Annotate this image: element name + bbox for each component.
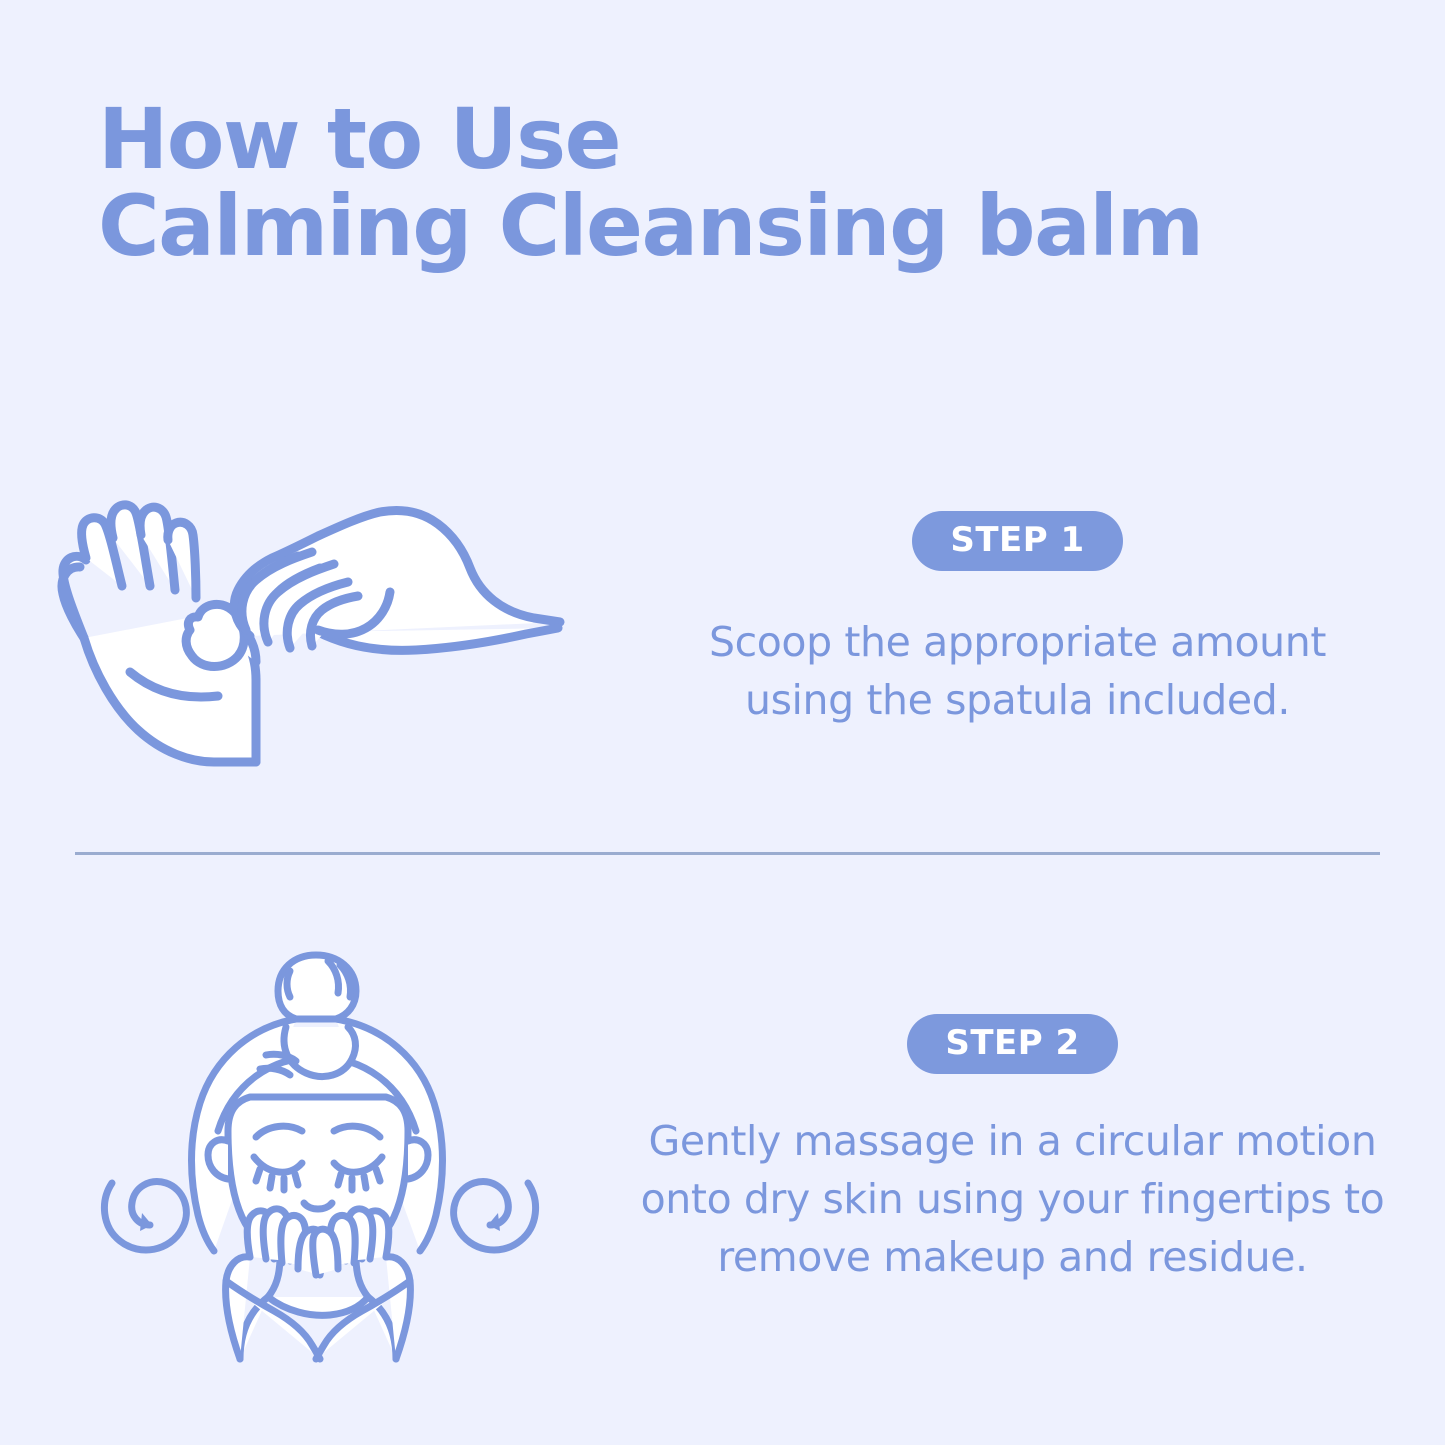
face-massage-icon <box>90 935 550 1365</box>
step-2-badge: STEP 2 <box>907 1014 1117 1074</box>
page-title: How to Use Calming Cleansing balm <box>98 96 1298 269</box>
hands-with-balm-illustration <box>0 440 650 800</box>
step-1-description: Scoop the appropriate amount using the s… <box>650 613 1385 729</box>
how-to-use-infographic: How to Use Calming Cleansing balm <box>0 0 1445 1445</box>
step-1-row: STEP 1 Scoop the appropriate amount usin… <box>0 420 1445 820</box>
section-divider <box>75 852 1380 855</box>
woman-massaging-face-illustration <box>0 935 640 1365</box>
hands-with-balm-icon <box>50 440 610 800</box>
step-2-row: STEP 2 Gently massage in a circular moti… <box>0 920 1445 1380</box>
step-1-badge: STEP 1 <box>912 511 1122 571</box>
step-2-description: Gently massage in a circular motion onto… <box>640 1112 1385 1287</box>
title-line-2: Calming Cleansing balm <box>98 183 1298 270</box>
title-line-1: How to Use <box>98 96 1298 183</box>
step-1-text: STEP 1 Scoop the appropriate amount usin… <box>650 511 1445 729</box>
step-2-text: STEP 2 Gently massage in a circular moti… <box>640 1014 1445 1287</box>
